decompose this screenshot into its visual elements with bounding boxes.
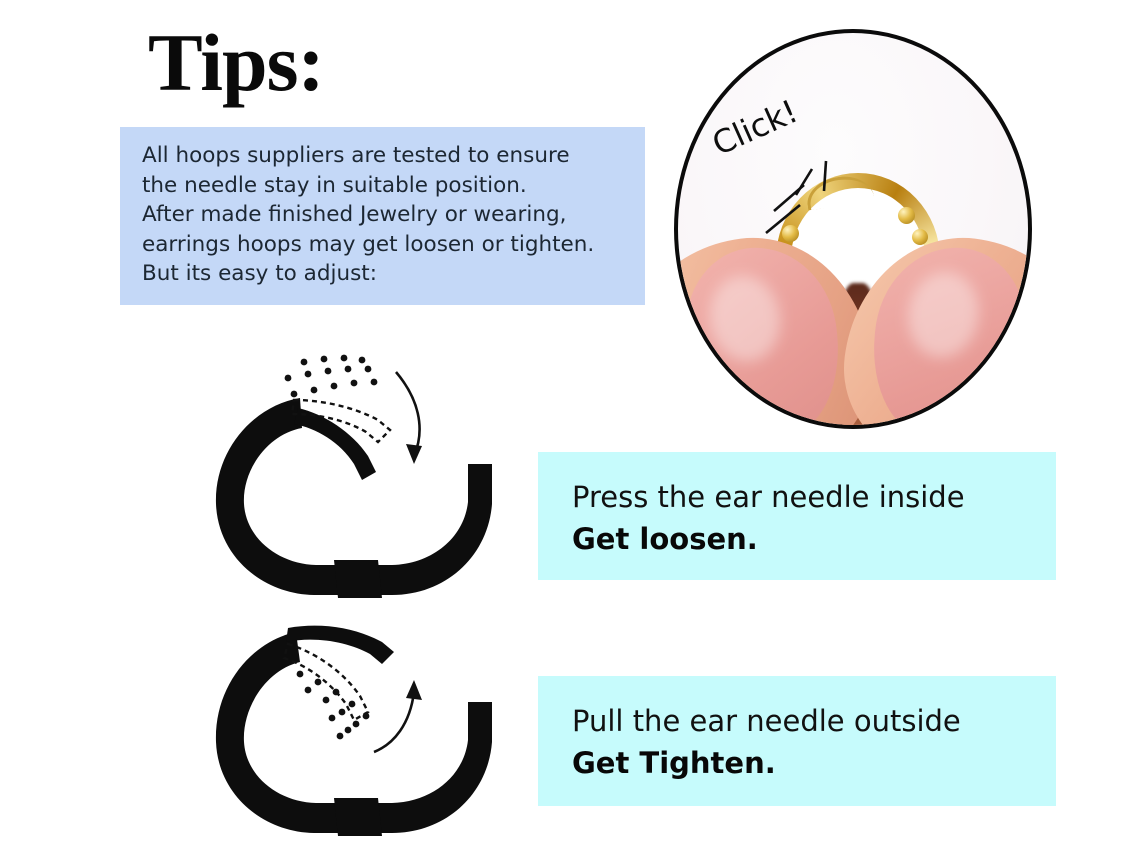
caption-loosen-line1: Press the ear needle inside — [572, 476, 1056, 518]
intro-line-4: earrings hoops may get loosen or tighten… — [142, 230, 645, 260]
intro-line-1: All hoops suppliers are tested to ensure — [142, 141, 645, 171]
intro-text-box: All hoops suppliers are tested to ensure… — [120, 127, 645, 305]
photo-content: Click! — [678, 33, 1028, 425]
caption-tighten-line2: Get Tighten. — [572, 742, 1056, 784]
page-title: Tips: — [148, 22, 324, 104]
caption-tighten-line1: Pull the ear needle outside — [572, 700, 1056, 742]
caption-loosen-line2: Get loosen. — [572, 518, 1056, 560]
caption-tighten: Pull the ear needle outside Get Tighten. — [538, 676, 1056, 806]
caption-loosen: Press the ear needle inside Get loosen. — [538, 452, 1056, 580]
intro-line-5: But its easy to adjust: — [142, 259, 645, 289]
product-photo-circle: Click! — [674, 29, 1032, 429]
hoop-press-needle-inside-diagram — [196, 352, 526, 618]
hoop-pull-needle-outside-diagram — [196, 604, 526, 855]
intro-line-2: the needle stay in suitable position. — [142, 171, 645, 201]
click-burst-rays — [678, 33, 1032, 429]
intro-line-3: After made finished Jewelry or wearing, — [142, 200, 645, 230]
tips-infographic: Tips: All hoops suppliers are tested to … — [0, 0, 1140, 855]
